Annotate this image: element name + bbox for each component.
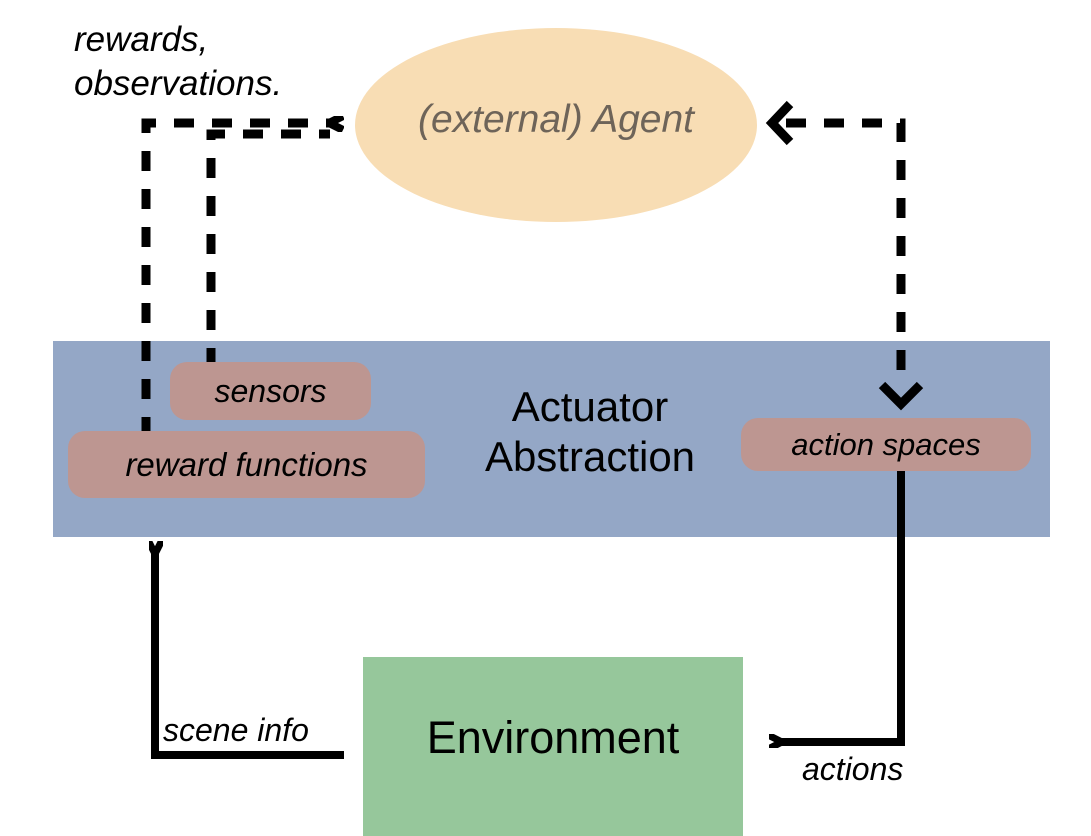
edge-label-actions: actions — [802, 751, 903, 788]
label-rewards-observations: rewards,observations. — [74, 18, 282, 106]
edge-sensors-to-agent — [211, 134, 330, 368]
label-rewards-observations-line1: rewards, — [74, 20, 208, 59]
label-rewards-observations-line2: observations. — [74, 64, 282, 103]
actuator-abstraction-label-line2: Abstraction — [485, 433, 695, 480]
diagram-canvas: rewards,observations. (external) Agent A… — [0, 0, 1091, 836]
actuator-abstraction-label: ActuatorAbstraction — [455, 382, 725, 481]
actuator-abstraction-label-line1: Actuator — [512, 383, 668, 430]
environment-node-label: Environment — [363, 712, 743, 764]
agent-node-label: (external) Agent — [355, 98, 757, 142]
edge-label-scene-info: scene info — [163, 712, 309, 749]
